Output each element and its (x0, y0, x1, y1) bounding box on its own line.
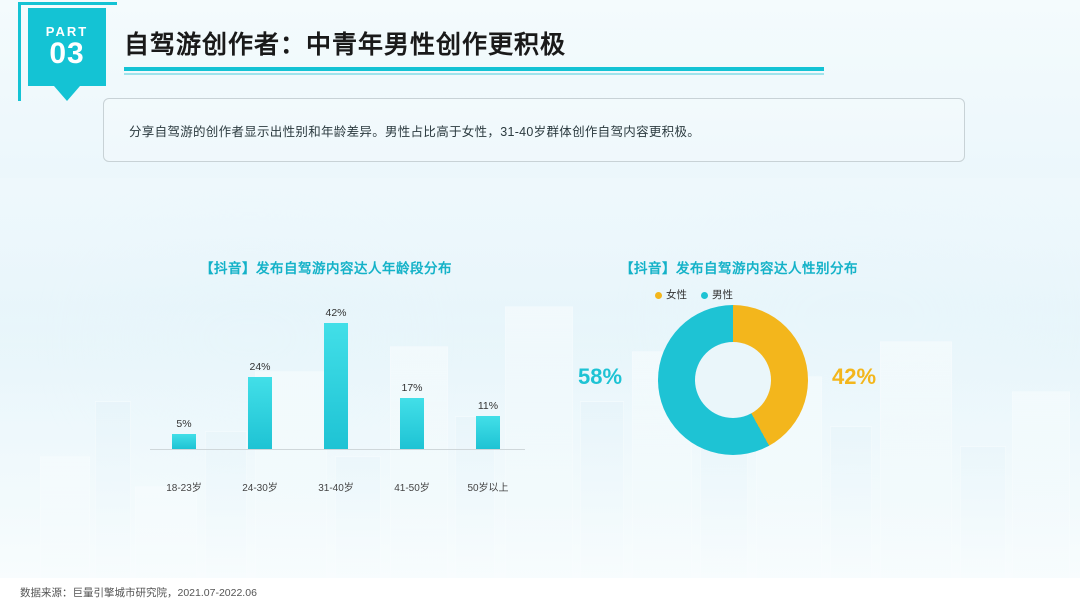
bar-group: 17%41-50岁 (400, 398, 424, 449)
donut-label-male: 58% (578, 364, 622, 390)
title-rule (124, 67, 824, 71)
legend-item-male: 男性 (701, 287, 733, 302)
part-badge: PART 03 (28, 8, 106, 86)
bar (324, 323, 348, 449)
bar-value-label: 5% (154, 418, 214, 430)
bar (248, 377, 272, 449)
bar (172, 434, 196, 449)
bar-group: 24%24-30岁 (248, 377, 272, 449)
gender-distribution-donut-chart (638, 305, 828, 480)
footer-source: 数据来源：巨量引擎城市研究院，2021.07-2022.06 (20, 585, 257, 600)
part-badge-number: 03 (49, 39, 84, 69)
summary-box: 分享自驾游的创作者显示出性别和年龄差异。男性占比高于女性，31-40岁群体创作自… (103, 98, 965, 162)
right-chart-title: 【抖音】发布自驾游内容达人性别分布 (620, 257, 858, 277)
bar-value-label: 42% (306, 307, 366, 319)
bar-value-label: 11% (458, 400, 518, 412)
bar-category-label: 41-50岁 (377, 479, 447, 494)
bar-category-label: 24-30岁 (225, 479, 295, 494)
donut-hole (695, 342, 771, 418)
left-chart-title: 【抖音】发布自驾游内容达人年龄段分布 (200, 257, 452, 277)
bar (400, 398, 424, 449)
summary-text: 分享自驾游的创作者显示出性别和年龄差异。男性占比高于女性，31-40岁群体创作自… (104, 121, 700, 140)
bar-value-label: 24% (230, 361, 290, 373)
legend-item-female: 女性 (655, 287, 687, 302)
page-title: 自驾游创作者：中青年男性创作更积极 (124, 25, 566, 61)
bar-category-label: 18-23岁 (149, 479, 219, 494)
age-distribution-bar-chart: 5%18-23岁24%24-30岁42%31-40岁17%41-50岁11%50… (150, 290, 540, 475)
bar-category-label: 50岁以上 (453, 479, 523, 494)
title-rule-secondary (124, 73, 824, 75)
bar-category-label: 31-40岁 (301, 479, 371, 494)
bar-group: 5%18-23岁 (172, 434, 196, 449)
donut-label-female: 42% (832, 364, 876, 390)
bar-group: 11%50岁以上 (476, 416, 500, 449)
bar-chart-x-axis (150, 449, 525, 450)
gender-chart-legend: 女性 男性 (655, 287, 733, 302)
bar-group: 42%31-40岁 (324, 323, 348, 449)
bar-value-label: 17% (382, 382, 442, 394)
bar (476, 416, 500, 449)
